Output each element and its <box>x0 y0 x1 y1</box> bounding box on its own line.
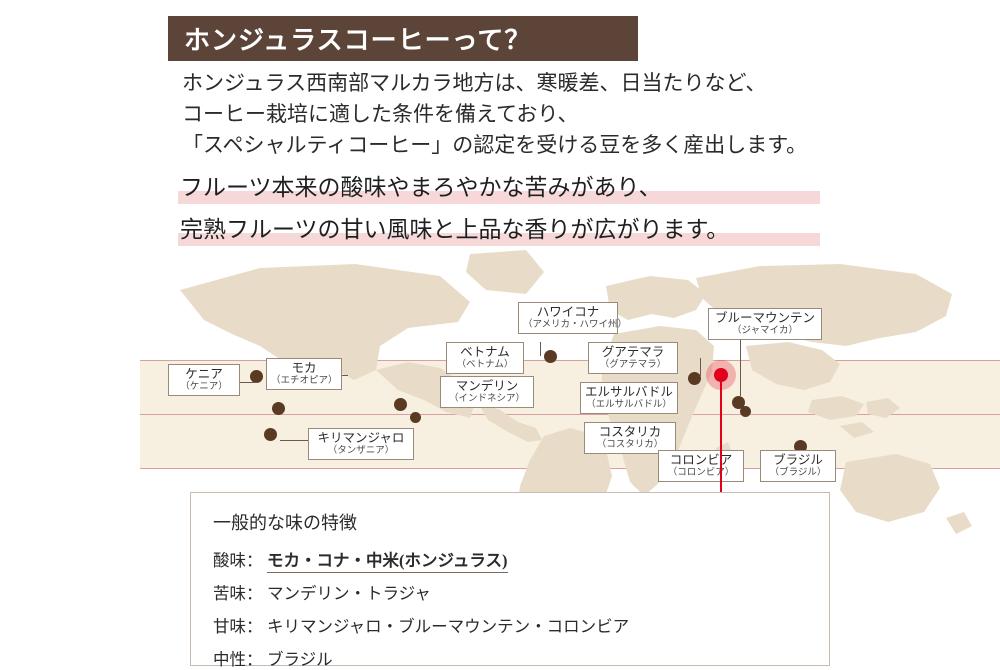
dot-kilimanjaro <box>264 428 277 441</box>
label-colombia-name: コロンビア <box>663 453 739 467</box>
label-vietnam-name: ベトナム <box>451 345 519 359</box>
leader-hawaii <box>540 342 541 356</box>
legend-key-acidity: 酸味： <box>213 547 267 571</box>
legend-value-sweetness: キリマンジャロ・ブルーマウンテン・コロンビア <box>267 613 629 637</box>
intro-paragraph: ホンジュラス西南部マルカラ地方は、寒暖差、日当たりなど、 コーヒー栽培に適した条… <box>182 68 882 161</box>
page-left-edge <box>0 0 8 666</box>
dot-hawaii-kona <box>544 350 557 363</box>
label-brazil-name: ブラジル <box>765 453 831 467</box>
page-title-text: ホンジュラスコーヒーって？ <box>168 20 531 57</box>
label-mocha-country: （エチオピア） <box>271 376 337 387</box>
legend-key-sweetness: 甘味： <box>213 613 267 637</box>
label-colombia-country: （コロンビア） <box>663 468 739 479</box>
honduras-marker-dot <box>714 368 728 382</box>
label-kenya-name: ケニア <box>173 367 235 381</box>
page-title: ホンジュラスコーヒーって？ <box>168 16 638 61</box>
legend-row-acidity: 酸味： モカ・コナ・中米(ホンジュラス) <box>213 547 807 571</box>
label-brazil-country: （ブラジル） <box>765 468 831 479</box>
label-brazil[interactable]: ブラジル （ブラジル） <box>760 450 836 482</box>
leader-bluemountain <box>740 336 741 396</box>
legend-row-bitterness: 苦味： マンデリン・トラジャ <box>213 580 807 604</box>
label-kenya[interactable]: ケニア （ケニア） <box>168 364 240 396</box>
leader-guatemala <box>700 358 701 376</box>
label-bluemountain-country: （ジャマイカ） <box>713 326 817 337</box>
leader-kenya <box>240 382 258 383</box>
highlight-text-2: 完熟フルーツの甘い風味と上品な香りが広がります。 <box>180 217 729 242</box>
highlight-block: フルーツ本来の酸味やまろやかな苦みがあり、 完熟フルーツの甘い風味と上品な香りが… <box>180 170 820 254</box>
label-kilimanjaro-country: （タンザニア） <box>313 446 409 457</box>
label-mandheling-country: （インドネシア） <box>445 394 529 405</box>
label-el-salvador[interactable]: エルサルバドル （エルサルバドル） <box>580 382 678 414</box>
legend-value-bitterness: マンデリン・トラジャ <box>267 580 431 604</box>
label-kilimanjaro-name: キリマンジャロ <box>313 431 409 445</box>
legend-row-neutral: 中性： ブラジル <box>213 646 807 670</box>
legend-value-acidity-text: モカ・コナ・中米(ホンジュラス) <box>267 551 508 570</box>
taste-legend-panel: 一般的な味の特徴 酸味： モカ・コナ・中米(ホンジュラス) 苦味： マンデリン・… <box>190 492 830 666</box>
label-elsalvador-country: （エルサルバドル） <box>585 400 673 411</box>
label-blue-mountain[interactable]: ブルーマウンテン （ジャマイカ） <box>708 308 822 340</box>
label-mocha-name: モカ <box>271 361 337 375</box>
label-kenya-country: （ケニア） <box>173 382 235 393</box>
intro-line-3: 「スペシャルティコーヒー」の認定を受ける豆を多く産出します。 <box>182 130 882 161</box>
dot-vietnam <box>394 398 407 411</box>
label-mocha[interactable]: モカ （エチオピア） <box>266 358 342 390</box>
label-hawaii-name: ハワイコナ <box>523 305 613 319</box>
label-costarica-name: コスタリカ <box>589 425 671 439</box>
label-kilimanjaro[interactable]: キリマンジャロ （タンザニア） <box>308 428 414 460</box>
legend-key-bitterness: 苦味： <box>213 580 267 604</box>
legend-row-sweetness: 甘味： キリマンジャロ・ブルーマウンテン・コロンビア <box>213 613 807 637</box>
label-elsalvador-name: エルサルバドル <box>585 385 673 399</box>
label-bluemountain-name: ブルーマウンテン <box>713 311 817 325</box>
label-guatemala-name: グアテマラ <box>593 345 673 359</box>
dot-kenya <box>272 402 285 415</box>
label-hawaii-kona[interactable]: ハワイコナ （アメリカ・ハワイ州） <box>518 302 618 334</box>
legend-value-neutral: ブラジル <box>267 646 333 670</box>
label-vietnam-country: （ベトナム） <box>451 360 519 371</box>
intro-line-2: コーヒー栽培に適した条件を備えており、 <box>182 99 882 130</box>
highlight-line-1: フルーツ本来の酸味やまろやかな苦みがあり、 <box>180 170 820 206</box>
label-mandheling[interactable]: マンデリン （インドネシア） <box>440 376 534 408</box>
legend-underline-acidity <box>267 572 508 573</box>
label-hawaii-country: （アメリカ・ハワイ州） <box>523 320 613 331</box>
dot-colombia <box>740 406 751 417</box>
label-vietnam[interactable]: ベトナム （ベトナム） <box>446 342 524 374</box>
intro-line-1: ホンジュラス西南部マルカラ地方は、寒暖差、日当たりなど、 <box>182 68 882 99</box>
highlight-text-1: フルーツ本来の酸味やまろやかな苦みがあり、 <box>180 175 662 200</box>
label-guatemala-country: （グアテマラ） <box>593 360 673 371</box>
legend-heading: 一般的な味の特徴 <box>213 509 807 535</box>
label-colombia[interactable]: コロンビア （コロンビア） <box>658 450 744 482</box>
label-guatemala[interactable]: グアテマラ （グアテマラ） <box>588 342 678 374</box>
legend-value-acidity: モカ・コナ・中米(ホンジュラス) <box>267 547 508 571</box>
label-mandheling-name: マンデリン <box>445 379 529 393</box>
highlight-line-2: 完熟フルーツの甘い風味と上品な香りが広がります。 <box>180 212 820 248</box>
dot-mandheling <box>410 412 421 423</box>
legend-key-neutral: 中性： <box>213 646 267 670</box>
